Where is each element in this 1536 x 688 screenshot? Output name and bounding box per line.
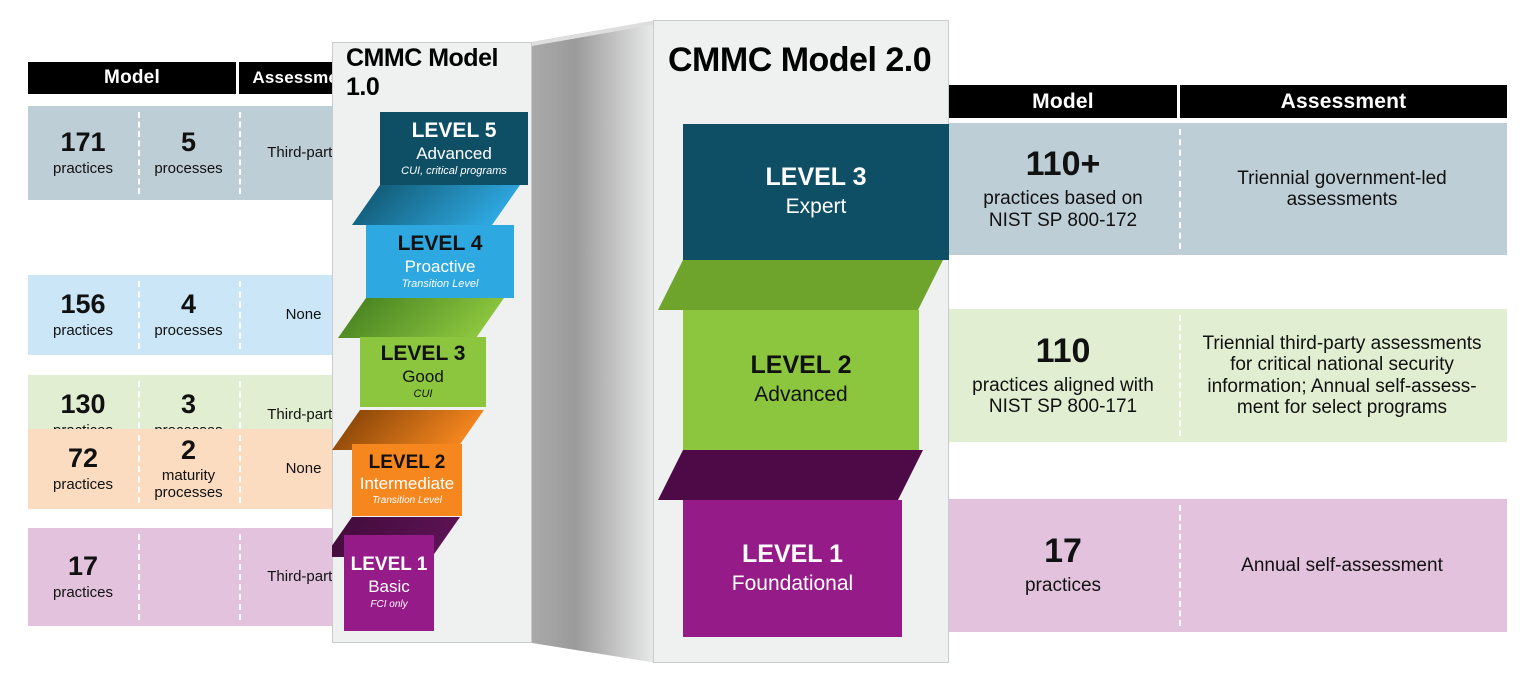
model-1-level-5: LEVEL 5 Advanced CUI, critical programs <box>380 112 528 185</box>
table-row: 156 practices 4 processes None <box>28 275 368 355</box>
level-desc: Expert <box>786 196 847 218</box>
cell-processes <box>138 528 239 626</box>
table-row: 17 practices Third-party <box>28 528 368 626</box>
level-note: CUI, critical programs <box>401 166 507 178</box>
table-row: 171 practices 5 processes Third-party <box>28 106 368 200</box>
level-name: LEVEL 5 <box>412 120 497 141</box>
practices-count: 72 <box>68 445 98 472</box>
assessment-value: Triennial government-led assessments <box>1237 168 1446 211</box>
level-desc: Basic <box>368 578 410 596</box>
assessment-value: None <box>286 461 322 478</box>
cell-model: 110 practices aligned with NIST SP 800-1… <box>949 309 1177 442</box>
right-table: Model Assessment 110+ practices based on… <box>949 85 1507 645</box>
level-desc: Advanced <box>416 145 492 163</box>
cmmc-model-1-title-label: CMMC Model 1.0 <box>346 44 526 102</box>
cell-assessment: Triennial government-led assessments <box>1177 123 1507 255</box>
assessment-value: None <box>286 307 322 324</box>
level-name: LEVEL 4 <box>398 233 483 254</box>
model-count: 110+ <box>1026 147 1101 181</box>
practices-unit: practices <box>53 161 113 178</box>
cell-processes: 4 processes <box>138 275 239 355</box>
cell-processes: 5 processes <box>138 106 239 200</box>
level-name: LEVEL 1 <box>351 555 428 574</box>
model-1-level-1: LEVEL 1 Basic FCI only <box>344 535 434 631</box>
assessment-value: Triennial third-party assessments for cr… <box>1202 333 1481 418</box>
processes-count: 4 <box>181 291 196 318</box>
practices-count: 171 <box>60 129 105 156</box>
level-name: LEVEL 3 <box>766 165 867 190</box>
level-desc: Foundational <box>732 573 853 595</box>
practices-unit: practices <box>53 477 113 494</box>
right-table-header-assessment: Assessment <box>1180 85 1507 118</box>
level-name: LEVEL 3 <box>381 343 466 364</box>
cmmc-model-2-title: CMMC Model 2.0 <box>668 36 938 84</box>
model-count: 110 <box>1036 334 1091 368</box>
level-desc: Intermediate <box>360 475 455 493</box>
practices-count: 156 <box>60 291 105 318</box>
cmmc-model-2-title-label: CMMC Model 2.0 <box>668 41 931 80</box>
cell-assessment: Annual self-assessment <box>1177 499 1507 632</box>
assessment-value: Annual self-assessment <box>1241 555 1443 576</box>
cmmc-model-1-title: CMMC Model 1.0 <box>346 56 526 90</box>
processes-unit: processes <box>154 323 222 340</box>
table-row: 72 practices 2 maturity processes None <box>28 429 368 509</box>
level-desc: Good <box>402 368 444 386</box>
model-2-level-2: LEVEL 2 Advanced <box>683 310 919 450</box>
model-2-level-3: LEVEL 3 Expert <box>683 124 949 260</box>
model-desc: practices <box>1025 575 1101 596</box>
level-desc: Advanced <box>754 384 847 406</box>
table-row: 17 practices Annual self-assessment <box>949 499 1507 632</box>
infographic-canvas: Model Assessment 171 practices 5 process… <box>0 0 1536 688</box>
model-count: 17 <box>1044 534 1082 568</box>
cell-practices: 72 practices <box>28 429 138 509</box>
practices-count: 130 <box>60 391 105 418</box>
model-1-level-2: LEVEL 2 Intermediate Transition Level <box>352 444 462 516</box>
level-desc: Proactive <box>405 258 476 276</box>
processes-count: 5 <box>181 129 196 156</box>
level-note: FCI only <box>370 600 407 611</box>
cell-model: 17 practices <box>949 499 1177 632</box>
cell-assessment: Triennial third-party assessments for cr… <box>1177 309 1507 442</box>
processes-unit: processes <box>154 161 222 178</box>
level-note: CUI <box>414 389 433 401</box>
left-table-header-model: Model <box>28 62 236 94</box>
cell-processes: 2 maturity processes <box>138 429 239 509</box>
right-table-header-assessment-label: Assessment <box>1281 90 1407 114</box>
model-1-level-3: LEVEL 3 Good CUI <box>360 337 486 407</box>
assessment-value: Third-party <box>267 407 340 424</box>
practices-count: 17 <box>68 553 98 580</box>
level-name: LEVEL 2 <box>751 353 852 378</box>
cell-practices: 156 practices <box>28 275 138 355</box>
processes-count: 2 <box>181 437 196 464</box>
level-note: Transition Level <box>372 496 442 507</box>
right-table-header-model-label: Model <box>1032 90 1094 114</box>
model-desc: practices based on NIST SP 800-172 <box>983 188 1143 231</box>
assessment-value: Third-party <box>267 145 340 162</box>
model-1-level-4: LEVEL 4 Proactive Transition Level <box>366 225 514 298</box>
processes-count: 3 <box>181 391 196 418</box>
level-name: LEVEL 1 <box>742 542 843 567</box>
left-table-header-model-label: Model <box>104 67 160 89</box>
model-2-level-1: LEVEL 1 Foundational <box>683 500 902 637</box>
assessment-value: Third-party <box>267 569 340 586</box>
level-name: LEVEL 2 <box>369 453 446 472</box>
cell-model: 110+ practices based on NIST SP 800-172 <box>949 123 1177 255</box>
table-row: 110+ practices based on NIST SP 800-172 … <box>949 123 1507 255</box>
cell-practices: 17 practices <box>28 528 138 626</box>
left-table: Model Assessment 171 practices 5 process… <box>28 62 368 650</box>
right-table-header-model: Model <box>949 85 1177 118</box>
practices-unit: practices <box>53 585 113 602</box>
table-row: 110 practices aligned with NIST SP 800-1… <box>949 309 1507 442</box>
practices-unit: practices <box>53 323 113 340</box>
processes-unit: maturity processes <box>154 468 222 502</box>
level-note: Transition Level <box>402 279 479 291</box>
cell-practices: 171 practices <box>28 106 138 200</box>
model-desc: practices aligned with NIST SP 800-171 <box>972 375 1154 418</box>
